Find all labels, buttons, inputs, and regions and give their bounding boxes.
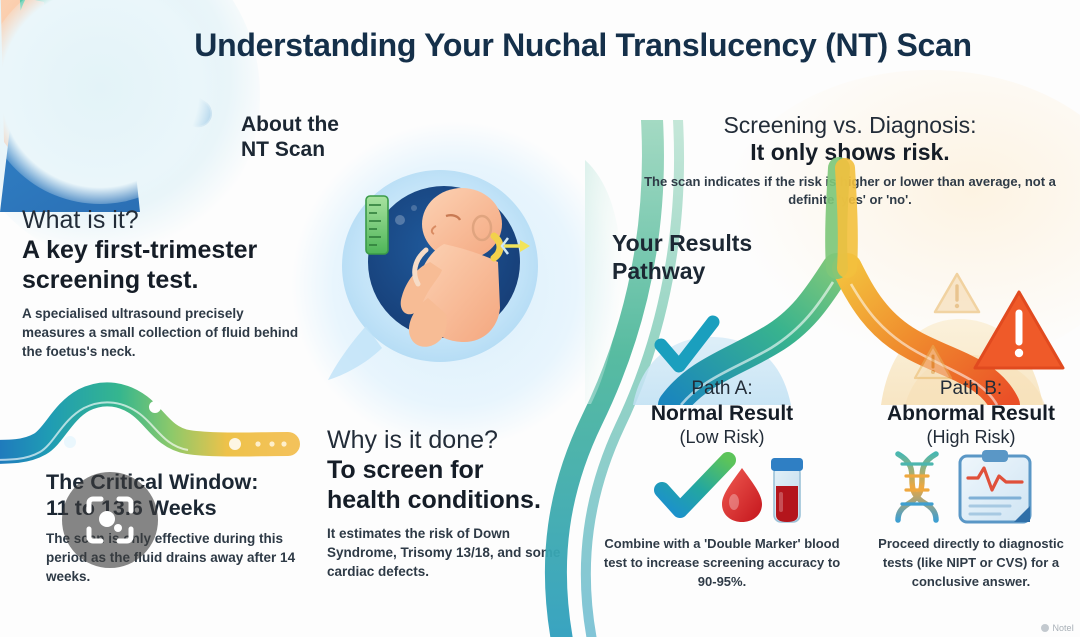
infographic-canvas: Understanding Your Nuchal Translucency (… xyxy=(0,0,1080,637)
about-nt-scan-label: About the NT Scan xyxy=(241,112,431,162)
path-b-icons-svg xyxy=(862,448,1080,524)
blood-test-tube-icon xyxy=(771,458,803,522)
path-a-note: Combine with a 'Double Marker' blood tes… xyxy=(596,535,848,592)
critical-window-timeline xyxy=(0,378,322,470)
warning-triangle-icon-small-top xyxy=(935,274,979,312)
pathway-title-line1: Your Results xyxy=(612,230,812,258)
measurement-ruler-icon xyxy=(366,196,388,254)
screening-heading-line1: Screening vs. Diagnosis: xyxy=(640,112,1060,139)
what-is-it-body: A specialised ultrasound precisely measu… xyxy=(22,304,302,361)
about-label-line1: About the xyxy=(241,112,431,137)
path-b-note: Proceed directly to diagnostic tests (li… xyxy=(862,535,1080,592)
watermark-label: NoteI xyxy=(1052,623,1074,633)
path-b-risk: (High Risk) xyxy=(862,426,1080,449)
what-is-it-answer-line2: screening test. xyxy=(22,265,302,295)
pathway-title-line2: Pathway xyxy=(612,258,812,286)
path-a-risk: (Low Risk) xyxy=(600,426,844,449)
google-lens-icon xyxy=(85,495,135,545)
watermark-logo-icon xyxy=(1041,624,1049,632)
results-pathway-title: Your Results Pathway xyxy=(612,230,812,285)
medical-clipboard-icon xyxy=(960,450,1030,522)
fetus-svg xyxy=(322,158,558,388)
dna-helix-icon xyxy=(898,454,936,520)
path-a-icons-svg xyxy=(600,452,844,524)
what-is-it-block: What is it? A key first-trimester screen… xyxy=(22,205,302,361)
path-b-icons xyxy=(862,448,1080,520)
timeline-svg xyxy=(0,378,322,470)
path-b-name: Path B: xyxy=(862,378,1080,401)
path-a-result: Normal Result xyxy=(600,401,844,427)
path-a-name: Path A: xyxy=(600,378,844,401)
what-is-it-answer-line1: A key first-trimester xyxy=(22,235,302,265)
watermark: NoteI xyxy=(1041,623,1074,633)
blood-drop-icon xyxy=(722,468,762,522)
path-b-result: Abnormal Result xyxy=(862,401,1080,427)
path-a-column: Path A: Normal Result (Low Risk) xyxy=(600,378,844,449)
fetus-illustration xyxy=(322,158,558,388)
page-title: Understanding Your Nuchal Translucency (… xyxy=(168,28,998,64)
path-a-icons xyxy=(600,452,844,524)
path-b-column: Path B: Abnormal Result (High Risk) xyxy=(862,378,1080,449)
what-is-it-question: What is it? xyxy=(22,205,302,235)
google-lens-button[interactable] xyxy=(62,472,158,568)
check-mark-icon xyxy=(662,460,728,510)
